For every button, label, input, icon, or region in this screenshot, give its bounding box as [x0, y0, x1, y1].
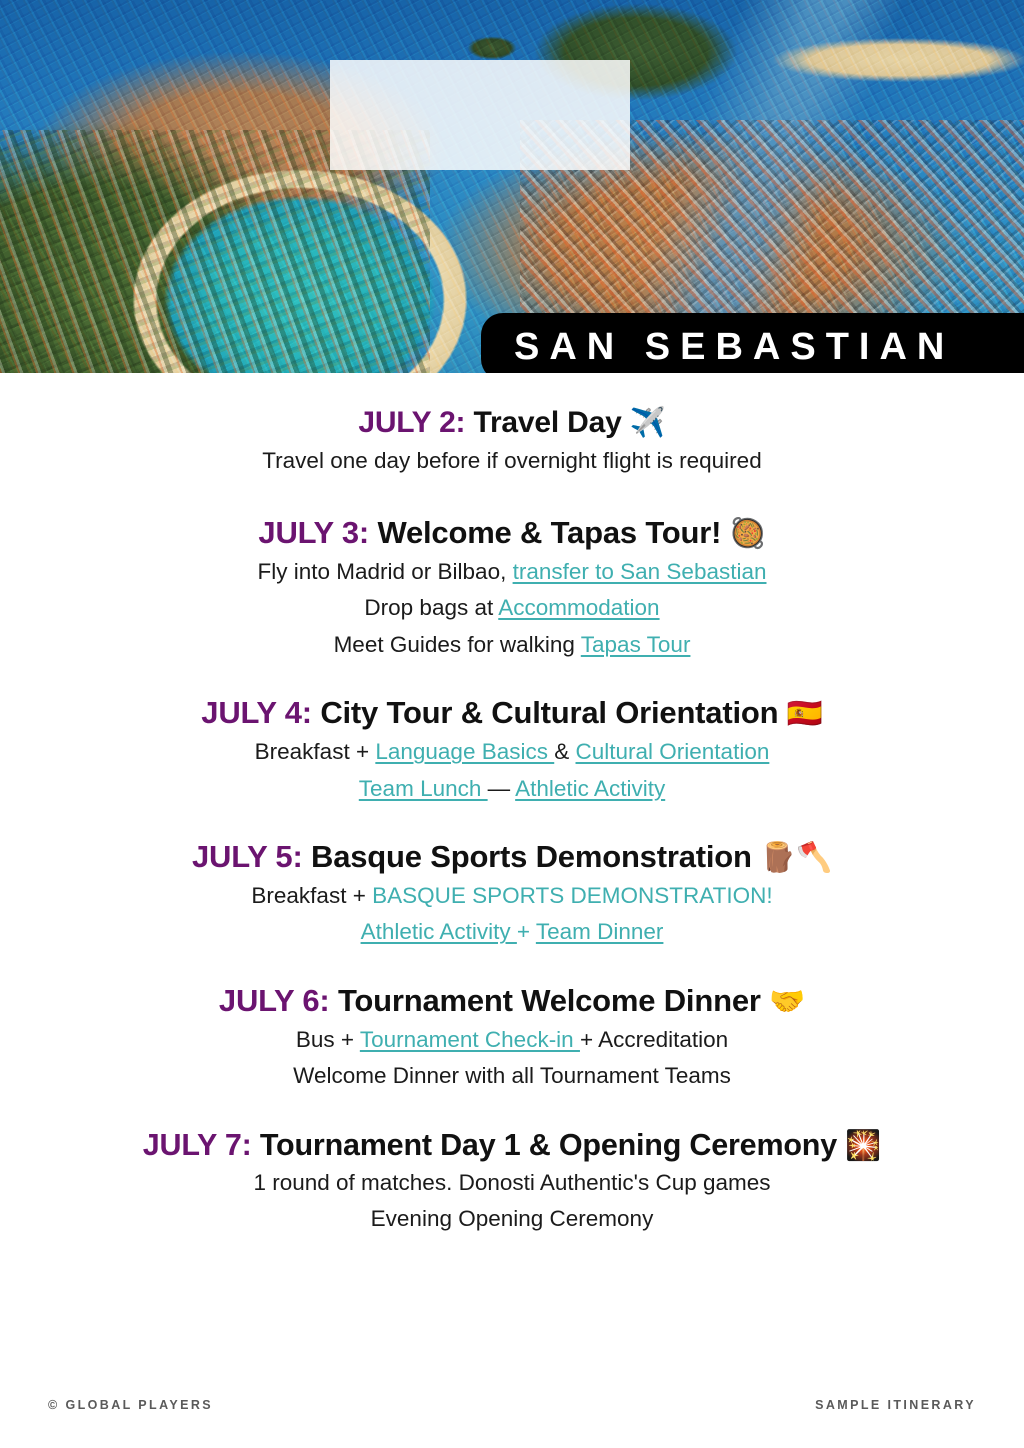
detail-text: Fly into Madrid or Bilbao,	[257, 559, 512, 584]
day-detail-line: Drop bags at Accommodation	[0, 590, 1024, 626]
day-block-july-4: JULY 4: City Tour & Cultural Orientation…	[0, 693, 1024, 807]
detail-text: Welcome Dinner with all Tournament Teams	[293, 1063, 731, 1088]
paella-emoji: 🥘	[730, 518, 766, 550]
airplane-emoji: ✈️	[630, 407, 666, 439]
detail-text: Evening Opening Ceremony	[371, 1206, 654, 1231]
day-block-july-5: JULY 5: Basque Sports Demonstration 🪵🪓 B…	[0, 837, 1024, 951]
day-detail-line: Travel one day before if overnight fligh…	[0, 443, 1024, 479]
day-heading-july-6: JULY 6: Tournament Welcome Dinner 🤝	[0, 981, 1024, 1022]
detail-text: Drop bags at	[364, 595, 498, 620]
detail-text: —	[488, 776, 516, 801]
photo-sailboats	[330, 60, 630, 170]
day-heading-july-7: JULY 7: Tournament Day 1 & Opening Cerem…	[0, 1125, 1024, 1165]
detail-text: &	[554, 739, 575, 764]
day-heading-july-2: JULY 2: Travel Day ✈️	[0, 403, 1024, 443]
detail-text: + Accreditation	[580, 1027, 728, 1052]
flag-spain-emoji: 🇪🇸	[787, 698, 823, 730]
day-heading-july-3: JULY 3: Welcome & Tapas Tour! 🥘	[0, 513, 1024, 554]
day-detail-line: Fly into Madrid or Bilbao, transfer to S…	[0, 554, 1024, 590]
detail-text: Meet Guides for walking	[334, 632, 581, 657]
highlight-basque-sports-demonstration: BASQUE SPORTS DEMONSTRATION!	[372, 883, 772, 908]
day-label: JULY 7:	[143, 1128, 252, 1162]
detail-text: Bus +	[296, 1027, 360, 1052]
day-block-july-3: JULY 3: Welcome & Tapas Tour! 🥘 Fly into…	[0, 513, 1024, 663]
day-detail-line: Welcome Dinner with all Tournament Teams	[0, 1058, 1024, 1094]
day-detail-line: Breakfast + Language Basics & Cultural O…	[0, 734, 1024, 770]
day-block-july-2: JULY 2: Travel Day ✈️ Travel one day bef…	[0, 403, 1024, 479]
detail-text: Travel one day before if overnight fligh…	[262, 448, 761, 473]
itinerary-content: JULY 2: Travel Day ✈️ Travel one day bef…	[0, 373, 1024, 1238]
footer-copyright: © GLOBAL PLAYERS	[48, 1398, 213, 1412]
hero-title-bar: SAN SEBASTIAN	[481, 313, 1024, 373]
link-team-lunch[interactable]: Team Lunch	[359, 776, 488, 801]
day-label: JULY 5:	[192, 839, 303, 874]
wood-log-and-axe-emoji: 🪵🪓	[760, 842, 832, 874]
link-athletic-activity[interactable]: Athletic Activity	[361, 919, 517, 944]
day-label: JULY 3:	[258, 515, 369, 550]
link-transfer-to-san-sebastian[interactable]: transfer to San Sebastian	[513, 559, 767, 584]
day-detail-line: Evening Opening Ceremony	[0, 1201, 1024, 1237]
day-heading-july-5: JULY 5: Basque Sports Demonstration 🪵🪓	[0, 837, 1024, 878]
day-label: JULY 2:	[358, 406, 465, 439]
day-block-july-6: JULY 6: Tournament Welcome Dinner 🤝 Bus …	[0, 981, 1024, 1095]
page-footer: © GLOBAL PLAYERS SAMPLE ITINERARY	[0, 1398, 1024, 1412]
link-accommodation[interactable]: Accommodation	[498, 595, 659, 620]
day-title: Tournament Welcome Dinner	[338, 983, 761, 1018]
day-title: Tournament Day 1 & Opening Ceremony	[260, 1128, 837, 1162]
day-label: JULY 4:	[201, 695, 312, 730]
day-title: Travel Day	[473, 406, 621, 439]
link-team-dinner[interactable]: Team Dinner	[536, 919, 664, 944]
itinerary-page: SAN SEBASTIAN JULY 2: Travel Day ✈️ Trav…	[0, 0, 1024, 1448]
day-label: JULY 6:	[219, 983, 330, 1018]
page-title: SAN SEBASTIAN	[514, 328, 954, 366]
detail-text: Breakfast +	[255, 739, 376, 764]
detail-text: Breakfast +	[251, 883, 372, 908]
link-cultural-orientation[interactable]: Cultural Orientation	[576, 739, 770, 764]
link-language-basics[interactable]: Language Basics	[375, 739, 554, 764]
day-title: Basque Sports Demonstration	[311, 839, 752, 874]
link-athletic-activity[interactable]: Athletic Activity	[515, 776, 665, 801]
day-detail-line: Team Lunch — Athletic Activity	[0, 771, 1024, 807]
day-detail-line: 1 round of matches. Donosti Authentic's …	[0, 1165, 1024, 1201]
link-tournament-check-in[interactable]: Tournament Check-in	[360, 1027, 580, 1052]
day-title: Welcome & Tapas Tour!	[377, 515, 721, 550]
link-tapas-tour[interactable]: Tapas Tour	[581, 632, 691, 657]
day-detail-line: Meet Guides for walking Tapas Tour	[0, 627, 1024, 663]
plus-separator: +	[517, 919, 536, 944]
detail-text: 1 round of matches. Donosti Authentic's …	[253, 1170, 770, 1195]
footer-doc-type: SAMPLE ITINERARY	[815, 1398, 976, 1412]
day-detail-line: Bus + Tournament Check-in + Accreditatio…	[0, 1022, 1024, 1058]
hero-banner: SAN SEBASTIAN	[0, 0, 1024, 373]
day-heading-july-4: JULY 4: City Tour & Cultural Orientation…	[0, 693, 1024, 734]
handshake-emoji: 🤝	[769, 986, 805, 1018]
fireworks-emoji: 🎇	[845, 1130, 881, 1162]
day-detail-line: Breakfast + BASQUE SPORTS DEMONSTRATION!	[0, 878, 1024, 914]
day-detail-line: Athletic Activity + Team Dinner	[0, 914, 1024, 950]
day-block-july-7: JULY 7: Tournament Day 1 & Opening Cerem…	[0, 1125, 1024, 1238]
day-title: City Tour & Cultural Orientation	[320, 695, 778, 730]
